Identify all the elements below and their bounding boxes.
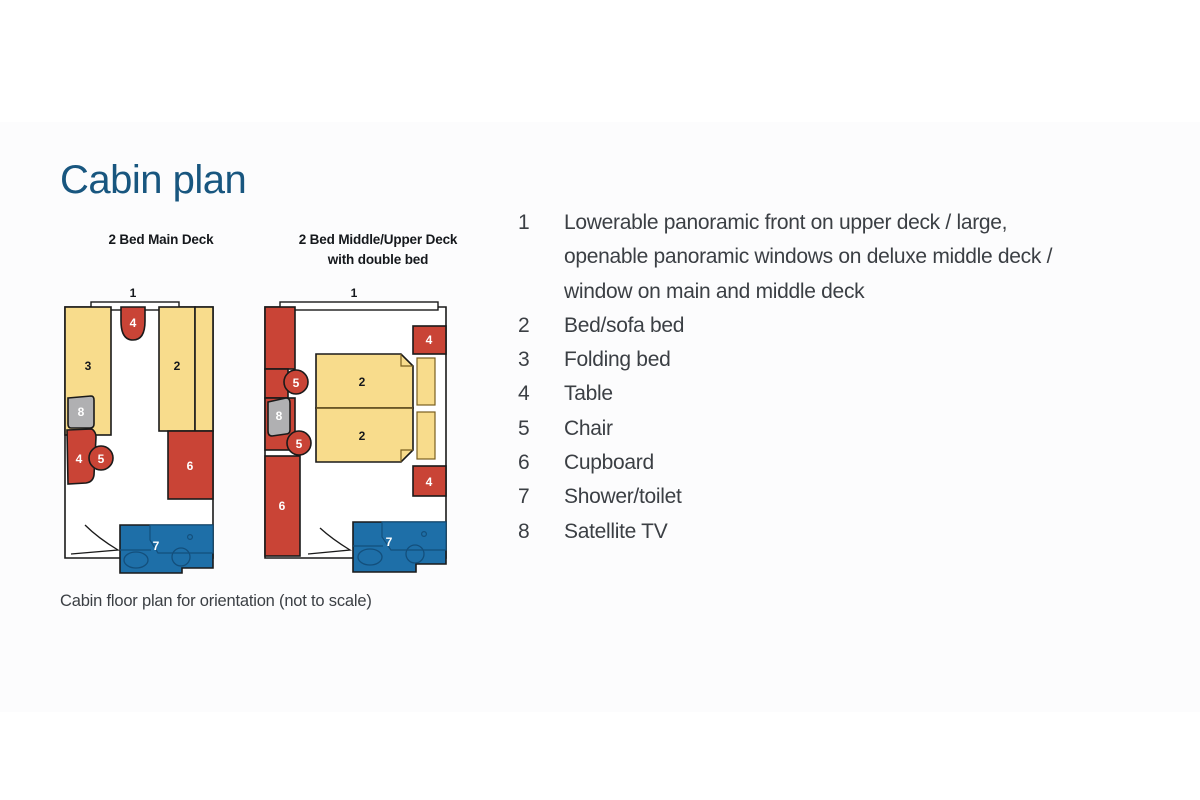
marker-5-lower-middle-upper-deck: 5 bbox=[296, 437, 303, 451]
cabin-plan-page: Cabin plan 2 Bed Main Deck 2 Bed Middle/… bbox=[0, 0, 1200, 800]
plan-heading-middle-upper-deck: 2 Bed Middle/Upper Deck with double bed bbox=[258, 230, 498, 269]
legend-item-7: 7 Shower/toilet bbox=[518, 480, 1118, 514]
marker-2-upper-middle-upper-deck: 2 bbox=[359, 375, 366, 389]
legend-item-6: 6 Cupboard bbox=[518, 446, 1118, 480]
marker-4-lower-main-deck: 4 bbox=[76, 452, 83, 466]
floor-plan-middle-upper-deck: 1 4 2 2 5 8 5 4 6 7 bbox=[258, 288, 458, 578]
marker-4-top-main-deck: 4 bbox=[130, 316, 137, 330]
legend-number-7: 7 bbox=[518, 480, 564, 514]
marker-5-main-deck: 5 bbox=[98, 452, 105, 466]
legend-item-5: 5 Chair bbox=[518, 412, 1118, 446]
marker-8-middle-upper-deck: 8 bbox=[276, 409, 283, 423]
legend-number-5: 5 bbox=[518, 412, 564, 446]
floor-plan-drawings: 1 4 3 2 8 4 5 6 7 bbox=[58, 288, 498, 588]
legend-number-6: 6 bbox=[518, 446, 564, 480]
floor-plan-main-deck: 1 4 3 2 8 4 5 6 7 bbox=[58, 288, 233, 578]
bed-sofa-bed-ledge-main-deck bbox=[195, 307, 213, 431]
legend-label-5: Chair bbox=[564, 412, 613, 446]
legend-label-7: Shower/toilet bbox=[564, 480, 682, 514]
plan-heading-line2: with double bed bbox=[328, 252, 429, 267]
marker-4-bottom-middle-upper-deck: 4 bbox=[426, 475, 433, 489]
legend-number-8: 8 bbox=[518, 515, 564, 549]
marker-4-top-middle-upper-deck: 4 bbox=[426, 333, 433, 347]
plan-caption: Cabin floor plan for orientation (not to… bbox=[60, 592, 372, 611]
marker-7-main-deck: 7 bbox=[153, 539, 160, 553]
legend-item-8: 8 Satellite TV bbox=[518, 515, 1118, 549]
floor-plans-headings: 2 Bed Main Deck 2 Bed Middle/Upper Deck … bbox=[58, 225, 498, 287]
legend-number-2: 2 bbox=[518, 309, 564, 343]
legend-label-4: Table bbox=[564, 377, 613, 411]
marker-8-main-deck: 8 bbox=[78, 405, 85, 419]
pillow-lower-middle-upper-deck bbox=[417, 412, 435, 459]
legend-label-3: Folding bed bbox=[564, 343, 670, 377]
legend-label-2: Bed/sofa bed bbox=[564, 309, 684, 343]
pillow-upper-middle-upper-deck bbox=[417, 358, 435, 405]
marker-6-main-deck: 6 bbox=[187, 459, 194, 473]
marker-2-main-deck: 2 bbox=[174, 359, 181, 373]
marker-3-main-deck: 3 bbox=[85, 359, 92, 373]
legend-item-1: 1 Lowerable panoramic front on upper dec… bbox=[518, 206, 1118, 309]
content-area: Cabin plan 2 Bed Main Deck 2 Bed Middle/… bbox=[0, 0, 1200, 800]
marker-2-lower-middle-upper-deck: 2 bbox=[359, 429, 366, 443]
marker-7-middle-upper-deck: 7 bbox=[386, 535, 393, 549]
marker-1-middle-upper-deck: 1 bbox=[351, 288, 358, 300]
marker-6-middle-upper-deck: 6 bbox=[279, 499, 286, 513]
wall-unit-upper-middle-upper-deck bbox=[265, 307, 295, 369]
page-title: Cabin plan bbox=[60, 158, 246, 202]
plan-heading-main-deck: 2 Bed Main Deck bbox=[66, 230, 256, 250]
legend-item-2: 2 Bed/sofa bed bbox=[518, 309, 1118, 343]
legend-item-4: 4 Table bbox=[518, 377, 1118, 411]
window-bar-middle-upper-deck bbox=[280, 302, 438, 310]
marker-1-main-deck: 1 bbox=[130, 288, 137, 300]
legend-number-3: 3 bbox=[518, 343, 564, 377]
plan-heading-row: 2 Bed Main Deck 2 Bed Middle/Upper Deck … bbox=[58, 225, 498, 287]
legend-list: 1 Lowerable panoramic front on upper dec… bbox=[518, 206, 1118, 549]
legend-number-1: 1 bbox=[518, 206, 564, 240]
plan-heading-line1: 2 Bed Middle/Upper Deck bbox=[299, 232, 458, 247]
legend-label-8: Satellite TV bbox=[564, 515, 667, 549]
legend-label-6: Cupboard bbox=[564, 446, 654, 480]
legend-label-1: Lowerable panoramic front on upper deck … bbox=[564, 206, 1084, 309]
legend-item-3: 3 Folding bed bbox=[518, 343, 1118, 377]
marker-5-upper-middle-upper-deck: 5 bbox=[293, 376, 300, 390]
legend-number-4: 4 bbox=[518, 377, 564, 411]
shower-tray-main-deck bbox=[150, 525, 213, 553]
